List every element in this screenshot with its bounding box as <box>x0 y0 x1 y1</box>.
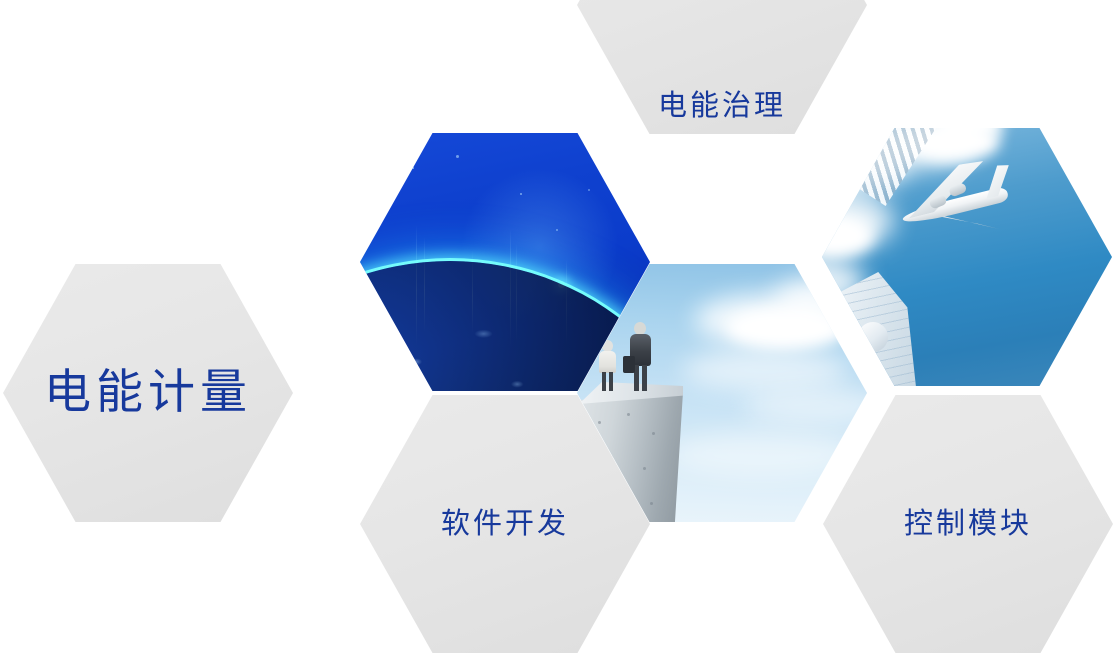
airplane-over-buildings-image <box>822 128 1112 386</box>
hex-label-power-management: 电能治理 <box>577 90 867 122</box>
satellite-dish-icon <box>858 322 888 352</box>
hex-cell-main[interactable]: 电能计量 <box>3 264 293 522</box>
hex-label-main: 电能计量 <box>3 367 293 419</box>
briefcase-icon <box>623 356 635 373</box>
hex-label-control: 控制模块 <box>823 508 1113 540</box>
hex-cell-power-management[interactable]: 电能治理 <box>577 0 867 134</box>
hexagon-infographic: 电能计量 电能治理 软件开发 控制模块 <box>0 0 1119 661</box>
person-right <box>627 322 655 392</box>
hex-cell-control[interactable]: 控制模块 <box>823 395 1113 653</box>
hex-label-software: 软件开发 <box>360 508 650 540</box>
hex-cell-aviation[interactable] <box>822 128 1112 386</box>
